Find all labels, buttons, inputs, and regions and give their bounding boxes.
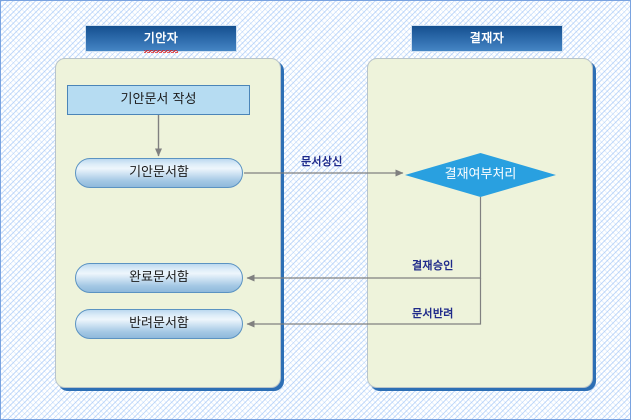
lane-header-drafter-label: 기안자 bbox=[144, 26, 179, 51]
node-decision[interactable]: 결재여부처리 bbox=[405, 153, 556, 197]
lane-header-approver-label: 결재자 bbox=[470, 26, 505, 51]
edge-label-reject: 문서반려 bbox=[412, 305, 454, 321]
lane-panel-approver bbox=[367, 58, 593, 388]
node-draft-write[interactable]: 기안문서 작성 bbox=[67, 85, 250, 115]
node-decision-label: 결재여부처리 bbox=[399, 153, 562, 197]
edge-label-submit: 문서상신 bbox=[301, 153, 343, 169]
lane-header-drafter: 기안자 bbox=[85, 25, 237, 52]
diagram-canvas: 기안자 결재자 기안문서 작성 기안문서함 완료문서함 bbox=[0, 0, 631, 420]
lane-header-approver: 결재자 bbox=[411, 25, 563, 52]
node-draft-box[interactable]: 기안문서함 bbox=[75, 158, 243, 188]
node-completed-box[interactable]: 완료문서함 bbox=[75, 263, 243, 293]
edge-label-approve: 결재승인 bbox=[412, 257, 454, 273]
node-rejected-box[interactable]: 반려문서함 bbox=[75, 309, 243, 339]
